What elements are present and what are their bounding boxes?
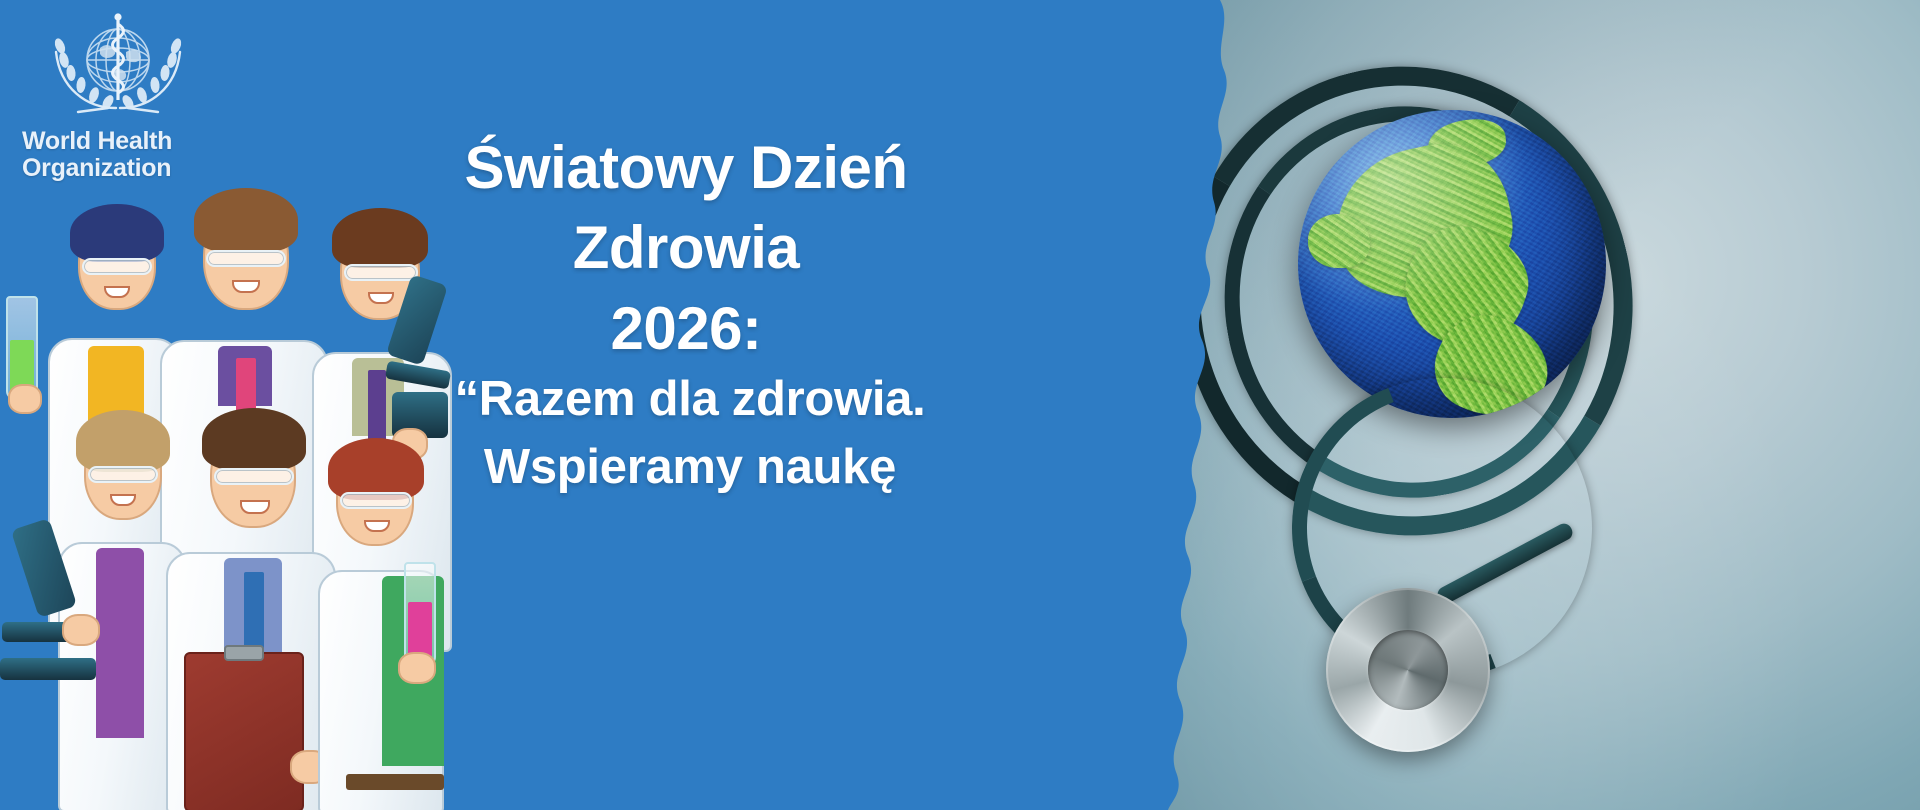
safety-goggles-icon bbox=[214, 468, 294, 485]
painted-earth-globe-icon bbox=[1298, 110, 1606, 418]
world-health-day-banner: World Health Organization Światowy Dzień… bbox=[0, 0, 1920, 810]
left-content-panel: World Health Organization Światowy Dzień… bbox=[0, 0, 1180, 810]
who-logo-line1: World Health bbox=[22, 128, 222, 155]
safety-goggles-icon bbox=[344, 264, 418, 281]
mouth bbox=[232, 280, 260, 293]
who-logo: World Health Organization bbox=[22, 8, 222, 181]
safety-goggles-icon bbox=[340, 492, 412, 509]
safety-goggles-icon bbox=[88, 466, 158, 483]
hair bbox=[194, 188, 298, 252]
mouth bbox=[240, 500, 270, 514]
globe-stethoscope-photo bbox=[1130, 0, 1920, 810]
globe-highlight bbox=[1298, 110, 1606, 418]
hair bbox=[332, 208, 428, 268]
test-tube-icon bbox=[404, 562, 436, 666]
shirt bbox=[96, 548, 144, 738]
scientists-illustration bbox=[0, 170, 500, 810]
hair bbox=[202, 408, 306, 470]
safety-goggles-icon bbox=[206, 250, 286, 267]
hair bbox=[70, 204, 164, 262]
hair bbox=[328, 438, 424, 500]
necktie bbox=[368, 370, 386, 446]
hair bbox=[76, 410, 170, 472]
belt bbox=[346, 774, 444, 790]
hand bbox=[8, 384, 42, 414]
who-emblem-icon bbox=[38, 8, 198, 126]
clipboard-clip bbox=[224, 645, 264, 661]
stethoscope-chestpiece-icon bbox=[1326, 588, 1490, 752]
clipboard-icon bbox=[184, 652, 304, 810]
safety-goggles-icon bbox=[82, 258, 152, 275]
hand bbox=[62, 614, 100, 646]
hand bbox=[398, 652, 436, 684]
microscope-base bbox=[0, 658, 96, 680]
